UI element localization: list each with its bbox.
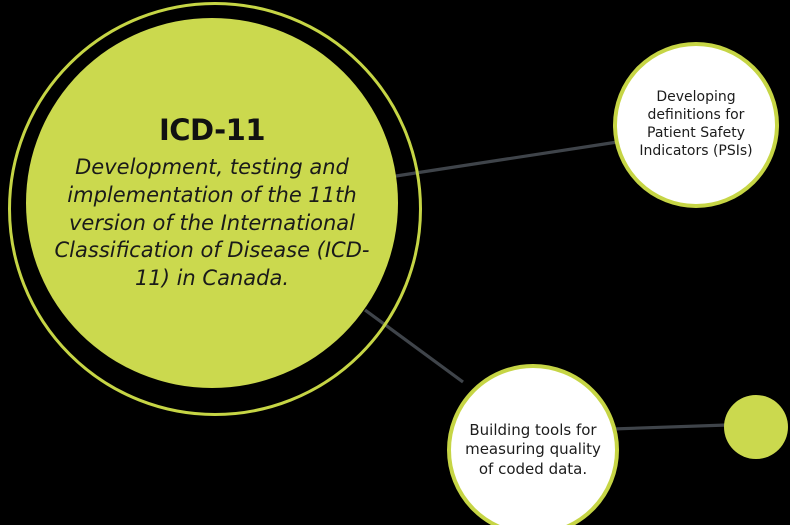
satellite-node-tools[interactable]: Building tools for measuring quality of …: [447, 364, 619, 525]
hub-node-icd11[interactable]: ICD-11 Development, testing and implemen…: [26, 18, 398, 388]
satellite-label-tools: Building tools for measuring quality of …: [462, 421, 604, 479]
leaf-node-circle[interactable]: [724, 395, 788, 459]
hub-description: Development, testing and implementation …: [50, 154, 374, 294]
edge-hub-to-psi: [396, 141, 624, 176]
diagram-canvas: ICD-11 Development, testing and implemen…: [0, 0, 790, 525]
satellite-node-psi[interactable]: Developing definitions for Patient Safet…: [613, 42, 779, 208]
satellite-label-psi: Developing definitions for Patient Safet…: [621, 89, 771, 161]
edge-tools-to-leaf: [612, 425, 727, 429]
hub-title: ICD-11: [159, 113, 265, 147]
